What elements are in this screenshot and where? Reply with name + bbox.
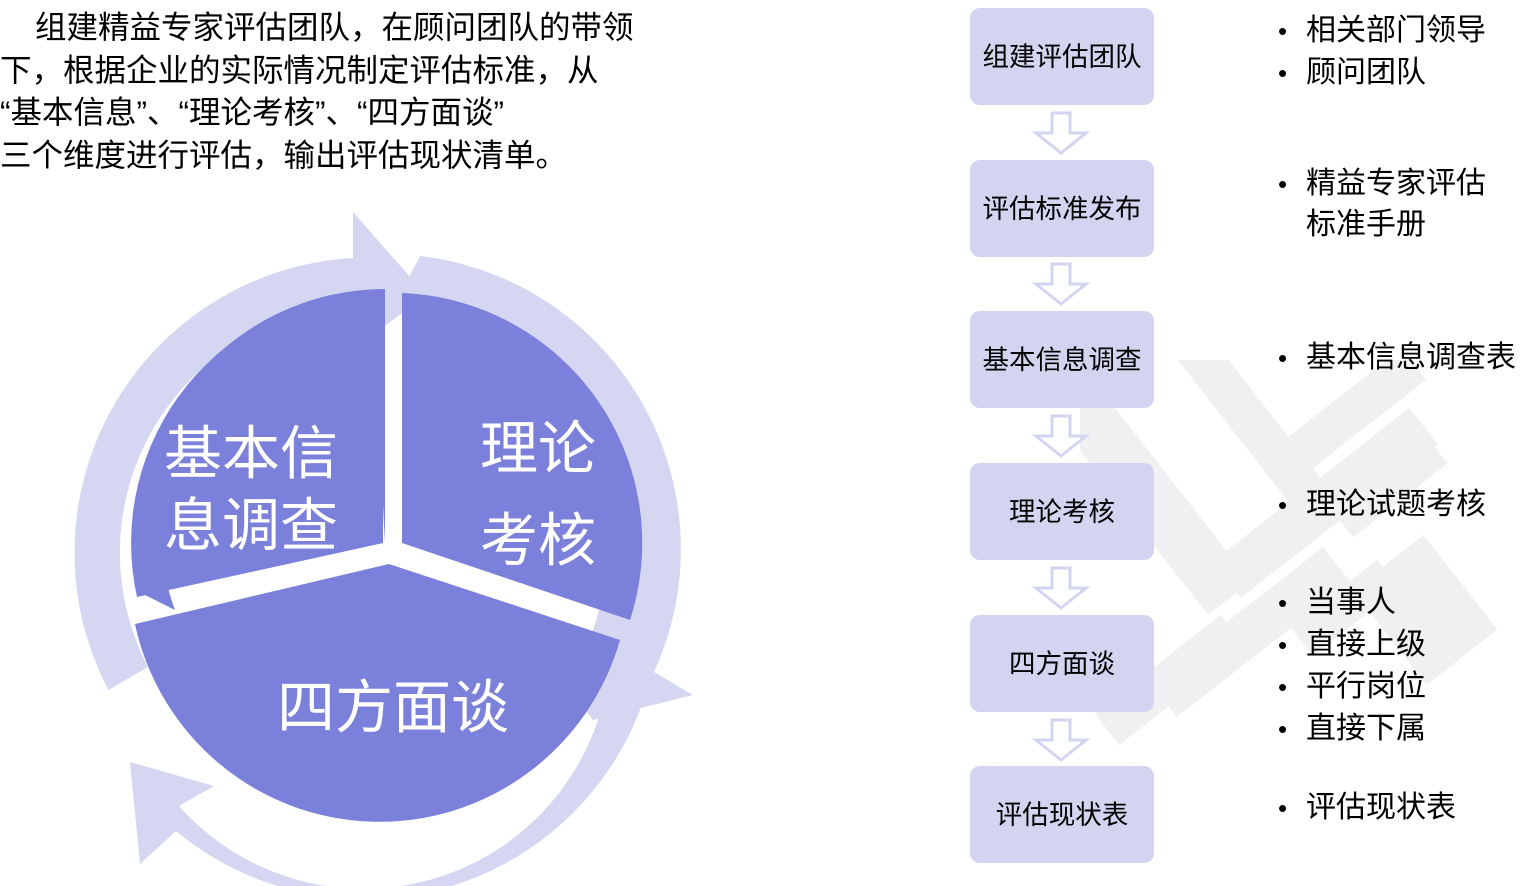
list-item-label: 精益专家评估标准手册 bbox=[1306, 163, 1493, 245]
flow-step-label: 理论考核 bbox=[1009, 494, 1115, 530]
segment-label-basic-info-line2: 息调查 bbox=[164, 493, 338, 558]
flow-arrow-5 bbox=[1028, 718, 1094, 762]
flow-arrow-2 bbox=[1028, 262, 1094, 306]
bullet-marker: • bbox=[1278, 337, 1306, 379]
flow-step-theory-exam[interactable]: 理论考核 bbox=[970, 463, 1154, 560]
bullet-marker: • bbox=[1278, 666, 1306, 708]
list-item-label: 顾问团队 bbox=[1306, 52, 1520, 94]
bullet-marker: • bbox=[1278, 787, 1306, 829]
list-item: • 顾问团队 bbox=[1278, 52, 1520, 94]
segment-label-theory-line1: 理论 bbox=[480, 416, 596, 481]
list-item-label: 平行岗位 bbox=[1306, 666, 1520, 708]
flow-step-basic-info-survey[interactable]: 基本信息调查 bbox=[970, 311, 1154, 408]
list-item-label: 基本信息调查表 bbox=[1306, 337, 1520, 379]
flow-chart: 组建评估团队 评估标准发布 基本信息调查 理论考核 四方面谈 bbox=[966, 0, 1166, 886]
flow-step-label: 组建评估团队 bbox=[983, 39, 1142, 75]
bullet-group-status-table: • 评估现状表 bbox=[1278, 787, 1520, 829]
bullet-marker: • bbox=[1278, 52, 1306, 94]
bullet-column: • 相关部门领导 • 顾问团队 • 精益专家评估标准手册 • 基本信息调查表 • bbox=[1278, 0, 1520, 886]
list-item: • 相关部门领导 bbox=[1278, 10, 1520, 52]
bullet-marker: • bbox=[1278, 10, 1306, 52]
bullet-marker: • bbox=[1278, 163, 1306, 205]
flow-step-label: 四方面谈 bbox=[1009, 646, 1115, 682]
bullet-group-basic-info: • 基本信息调查表 bbox=[1278, 337, 1520, 379]
bullet-group-theory-exam: • 理论试题考核 bbox=[1278, 484, 1520, 526]
flow-step-build-team[interactable]: 组建评估团队 bbox=[970, 8, 1154, 105]
slide-canvas: 组建精益专家评估团队，在顾问团队的带领 下，根据企业的实际情况制定评估标准，从 … bbox=[0, 0, 1520, 886]
flow-arrow-1 bbox=[1028, 111, 1094, 155]
bullet-marker: • bbox=[1278, 582, 1306, 624]
intro-paragraph: 组建精益专家评估团队，在顾问团队的带领 下，根据企业的实际情况制定评估标准，从 … bbox=[0, 6, 830, 176]
bullet-marker: • bbox=[1278, 624, 1306, 666]
bullet-group-publish-standard: • 精益专家评估标准手册 bbox=[1278, 163, 1493, 245]
list-item-label: 理论试题考核 bbox=[1306, 484, 1520, 526]
list-item: • 精益专家评估标准手册 bbox=[1278, 163, 1493, 245]
flow-arrow-3 bbox=[1028, 414, 1094, 458]
flow-step-label: 评估现状表 bbox=[996, 797, 1129, 833]
bullet-group-interview: • 当事人 • 直接上级 • 平行岗位 • 直接下属 bbox=[1278, 582, 1520, 750]
list-item: • 当事人 bbox=[1278, 582, 1520, 624]
flow-step-assessment-status-table[interactable]: 评估现状表 bbox=[970, 766, 1154, 863]
list-item-label: 相关部门领导 bbox=[1306, 10, 1520, 52]
list-item: • 理论试题考核 bbox=[1278, 484, 1520, 526]
flow-step-label: 评估标准发布 bbox=[983, 191, 1142, 227]
list-item: • 直接下属 bbox=[1278, 708, 1520, 750]
bullet-marker: • bbox=[1278, 708, 1306, 750]
list-item-label: 评估现状表 bbox=[1306, 787, 1520, 829]
list-item: • 评估现状表 bbox=[1278, 787, 1520, 829]
bullet-marker: • bbox=[1278, 484, 1306, 526]
list-item-label: 直接上级 bbox=[1306, 624, 1520, 666]
bullet-group-build-team: • 相关部门领导 • 顾问团队 bbox=[1278, 10, 1520, 94]
list-item-label: 当事人 bbox=[1306, 582, 1520, 624]
segment-label-four-party: 四方面谈 bbox=[277, 675, 509, 740]
segment-label-basic-info-line1: 基本信 bbox=[164, 421, 338, 486]
flow-step-four-party-interview[interactable]: 四方面谈 bbox=[970, 615, 1154, 712]
flow-step-publish-standard[interactable]: 评估标准发布 bbox=[970, 160, 1154, 257]
list-item: • 基本信息调查表 bbox=[1278, 337, 1520, 379]
segment-label-theory-line2: 考核 bbox=[480, 508, 596, 573]
flow-arrow-4 bbox=[1028, 566, 1094, 610]
list-item: • 平行岗位 bbox=[1278, 666, 1520, 708]
list-item-label: 直接下属 bbox=[1306, 708, 1520, 750]
flow-step-label: 基本信息调查 bbox=[983, 342, 1142, 378]
cycle-diagram: 基本信 息调查 理论 考核 四方面谈 bbox=[48, 200, 728, 886]
list-item: • 直接上级 bbox=[1278, 624, 1520, 666]
